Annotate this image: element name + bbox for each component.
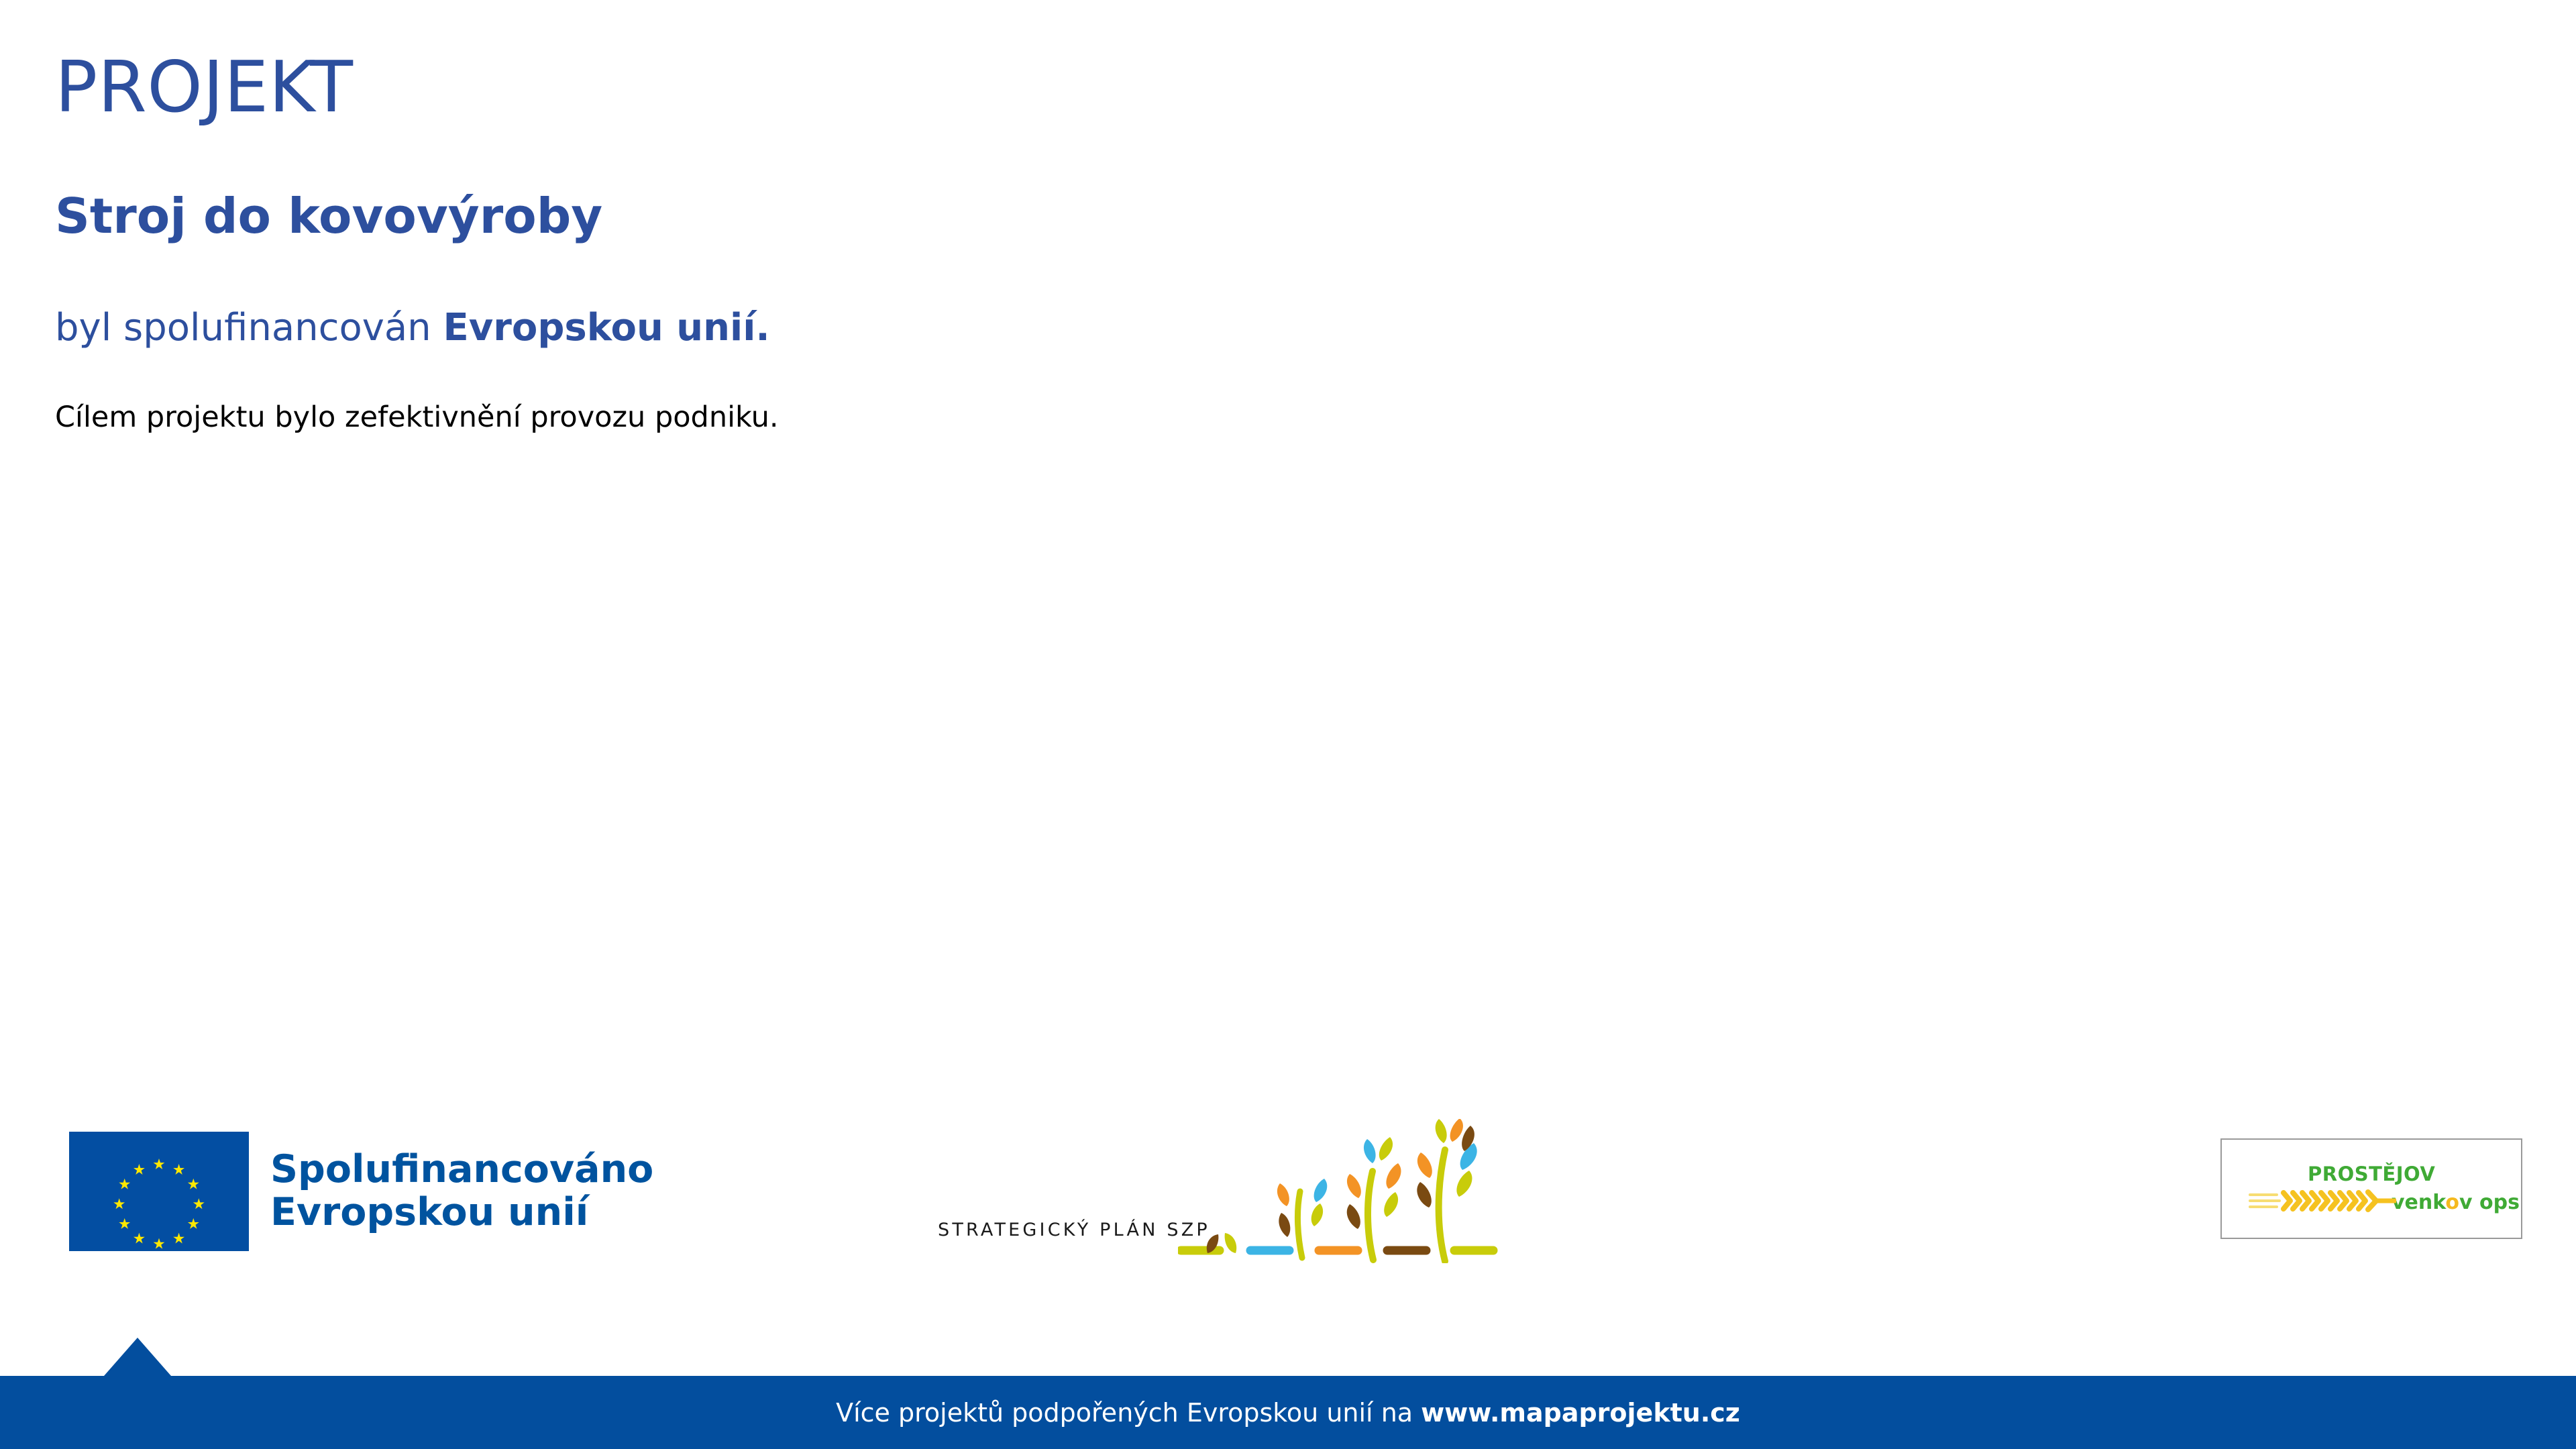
cofinanced-prefix: byl spolufinancován — [55, 306, 443, 350]
eu-wordmark: Spolufinancováno Evropskou unií — [270, 1148, 653, 1234]
prostejov-sub-highlight: o — [2445, 1191, 2459, 1214]
szp-logo-label: STRATEGICKÝ PLÁN SZP — [938, 1220, 1210, 1240]
eu-stars-icon — [69, 1132, 249, 1251]
cofinanced-emphasis: Evropskou unií. — [443, 306, 769, 350]
project-goal-text: Cílem projektu bylo zefektivnění provozu… — [55, 399, 779, 437]
prostejov-logo-subtitle: venkov ops — [2392, 1191, 2520, 1214]
prostejov-logo-title: PROSTĚJOV — [2308, 1163, 2435, 1185]
bottom-bar: Více projektů podpořených Evropskou unií… — [0, 1376, 2576, 1449]
project-name-heading: Stroj do kovovýroby — [55, 190, 602, 243]
eu-flag-icon — [69, 1132, 249, 1251]
szp-logo: STRATEGICKÝ PLÁN SZP — [938, 1119, 1521, 1263]
page-title: PROJEKT — [55, 52, 354, 123]
footer-label: Více projektů podpořených Evropskou unií… — [836, 1398, 1413, 1428]
footer-url[interactable]: www.mapaprojektu.cz — [1421, 1398, 1740, 1428]
logo-row: Spolufinancováno Evropskou unií STRATEGI… — [0, 1114, 2576, 1288]
cofinanced-statement: byl spolufinancován Evropskou unií. — [55, 305, 770, 350]
prostejov-sub-after: v ops — [2459, 1191, 2520, 1214]
wheat-chevron-icon — [2249, 1184, 2396, 1218]
eu-emblem-logo: Spolufinancováno Evropskou unií — [69, 1132, 653, 1251]
eu-wordmark-line2: Evropskou unií — [270, 1191, 653, 1234]
prostejov-sub-before: venk — [2392, 1191, 2445, 1214]
bottom-bar-notch-icon — [104, 1338, 171, 1376]
eu-wordmark-line1: Spolufinancováno — [270, 1148, 653, 1191]
footer-text: Více projektů podpořených Evropskou unií… — [0, 1376, 2576, 1449]
szp-plants-icon — [1178, 1119, 1520, 1263]
prostejov-venkov-logo: PROSTĚJOV venkov ops — [2220, 1138, 2522, 1239]
